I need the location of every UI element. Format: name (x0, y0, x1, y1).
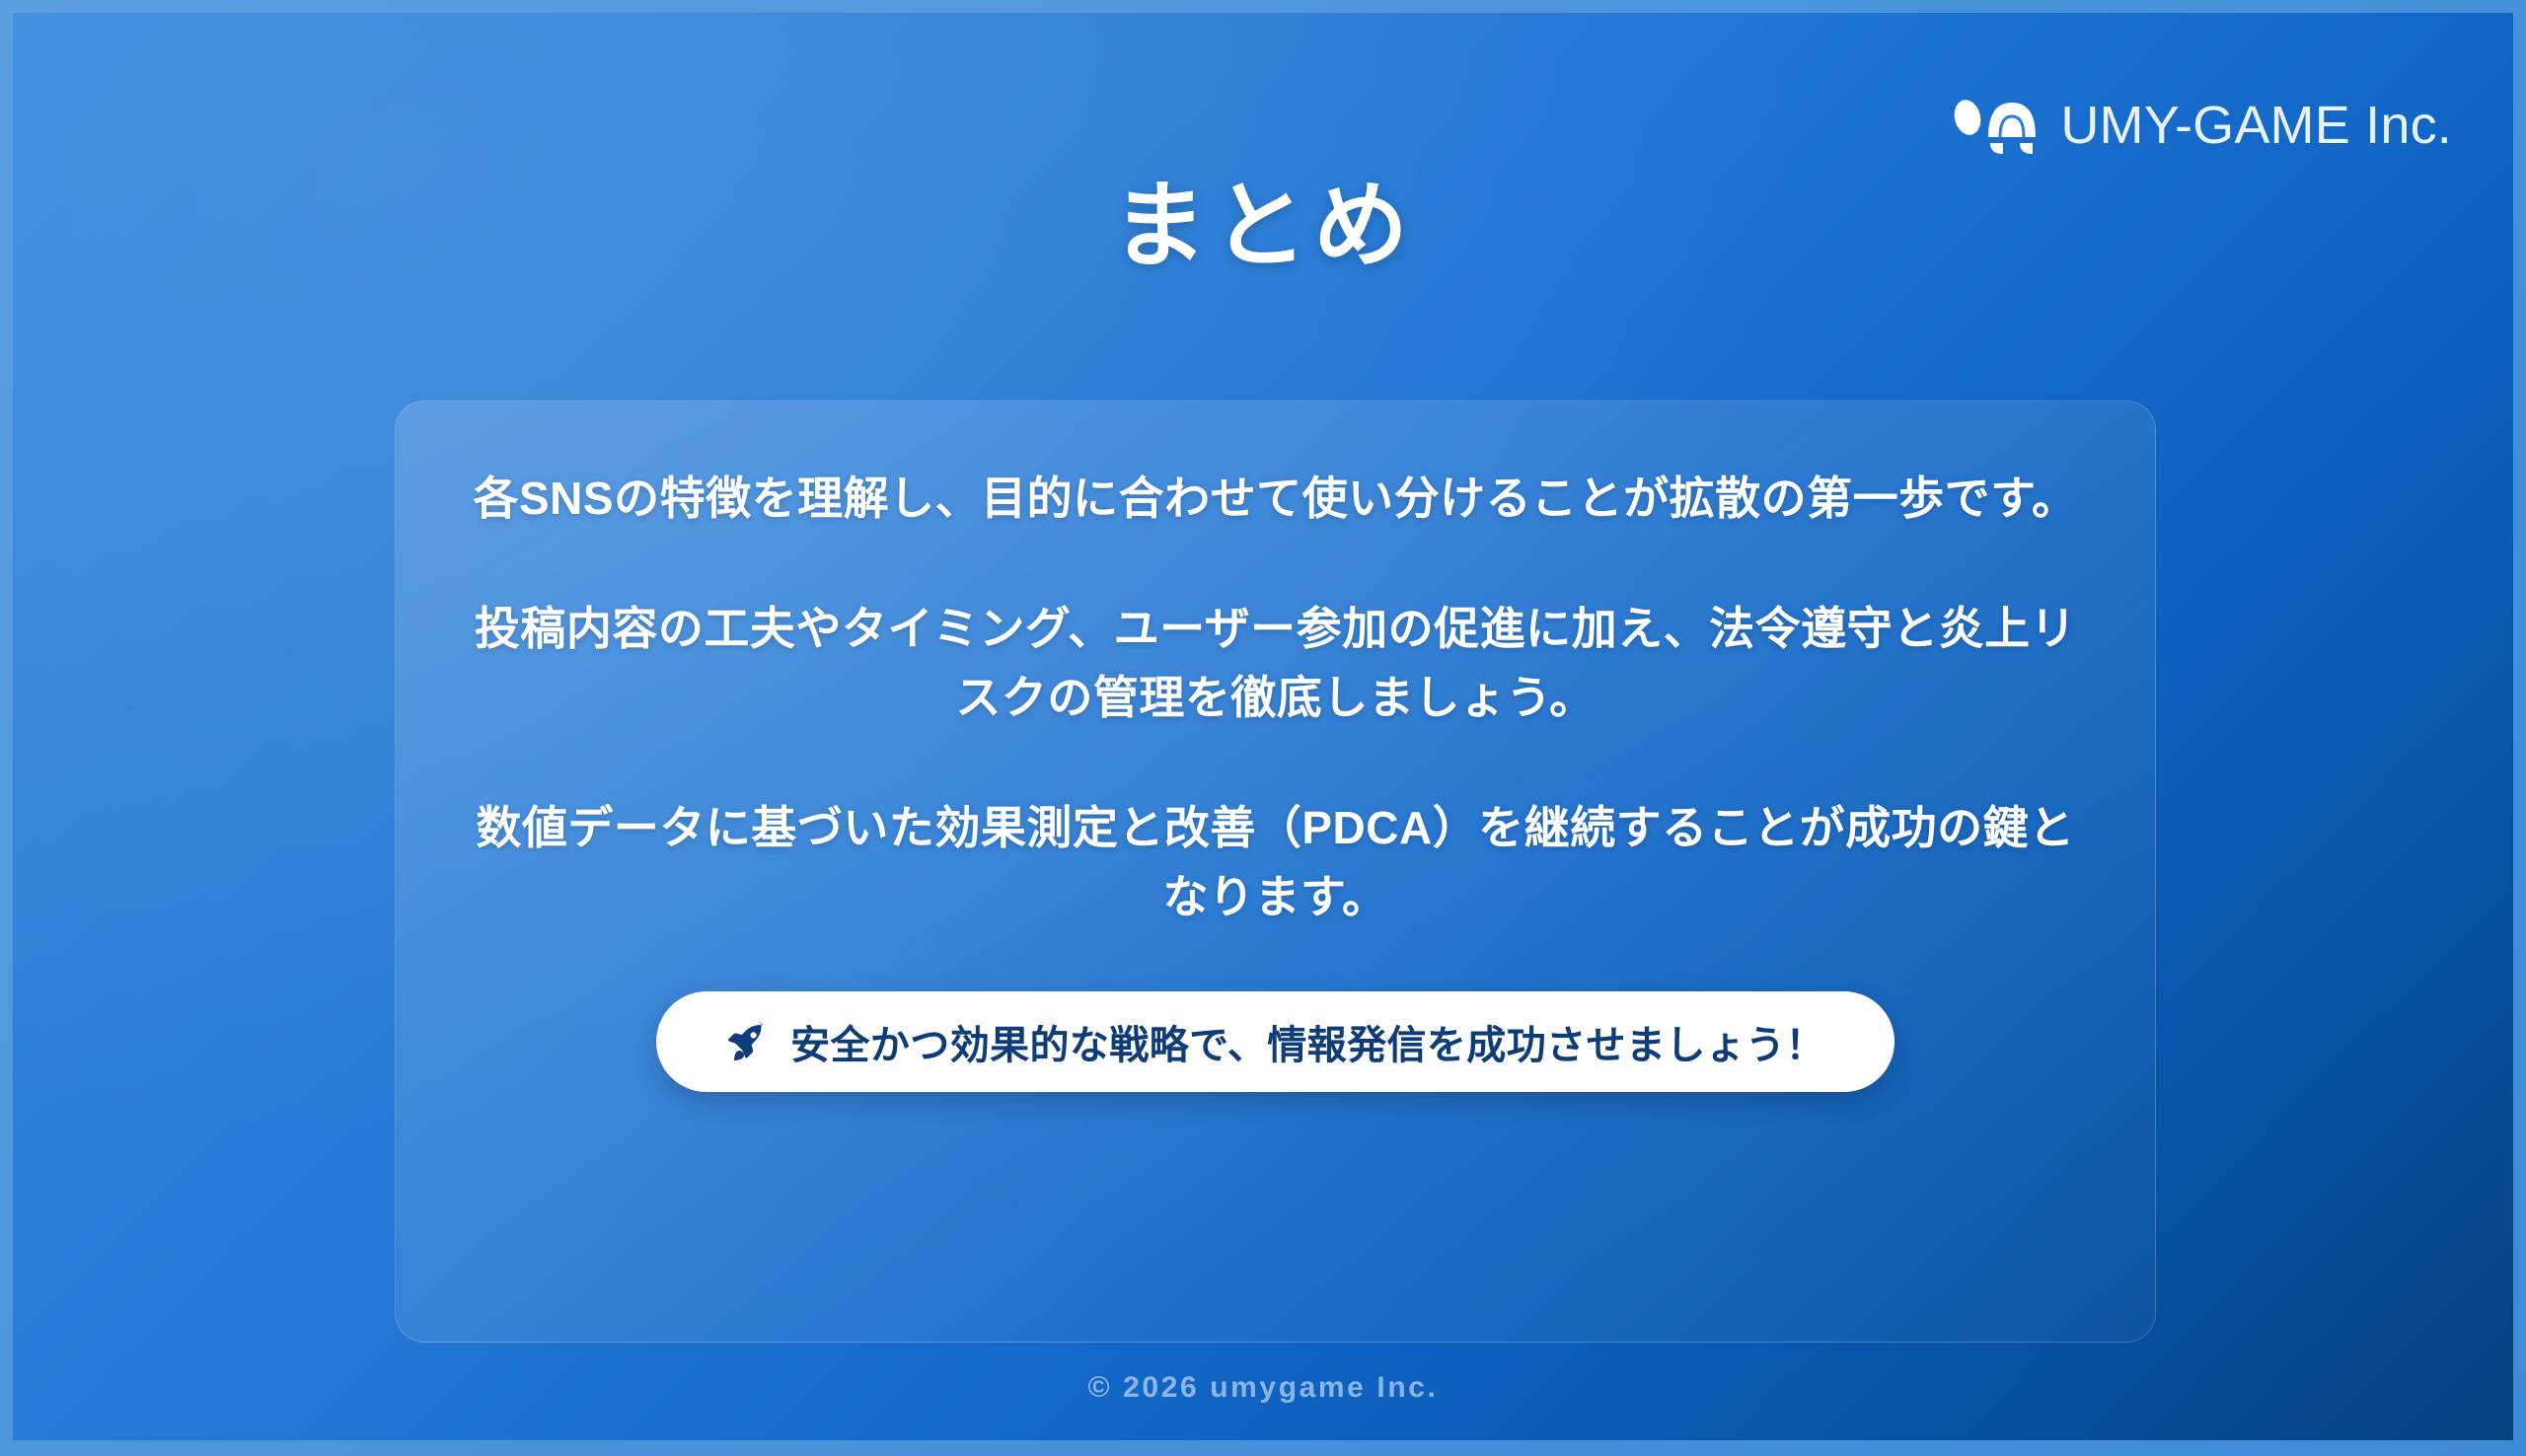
summary-point: 各SNSの特徴を理解し、目的に合わせて使い分けることが拡散の第一歩です。 (467, 465, 2085, 534)
turtle-icon (1949, 97, 2043, 154)
slide-frame: UMY-GAME Inc. まとめ 各SNSの特徴を理解し、目的に合わせて使い分… (0, 0, 2526, 1456)
cta-container: 安全かつ効果的な戦略で、情報発信を成功させましょう！ (490, 991, 2060, 1092)
summary-point: 投稿内容の工夫やタイミング、ユーザー参加の促進に加え、法令遵守と炎上リスクの管理… (467, 595, 2085, 733)
rocket-icon (725, 1020, 769, 1063)
cta-label: 安全かつ効果的な戦略で、情報発信を成功させましょう！ (790, 1013, 1825, 1070)
presentation-slide: UMY-GAME Inc. まとめ 各SNSの特徴を理解し、目的に合わせて使い分… (13, 13, 2513, 1440)
footer-copyright: © 2026 umygame Inc. (13, 1371, 2513, 1405)
brand-name: UMY-GAME Inc. (2060, 99, 2452, 152)
summary-card: 各SNSの特徴を理解し、目的に合わせて使い分けることが拡散の第一歩です。 投稿内… (395, 400, 2156, 1343)
page-title: まとめ (13, 149, 2513, 286)
brand-logo: UMY-GAME Inc. (1949, 97, 2452, 154)
cta-button[interactable]: 安全かつ効果的な戦略で、情報発信を成功させましょう！ (656, 991, 1894, 1092)
summary-point: 数値データに基づいた効果測定と改善（PDCA）を継続することが成功の鍵となります… (467, 794, 2085, 932)
